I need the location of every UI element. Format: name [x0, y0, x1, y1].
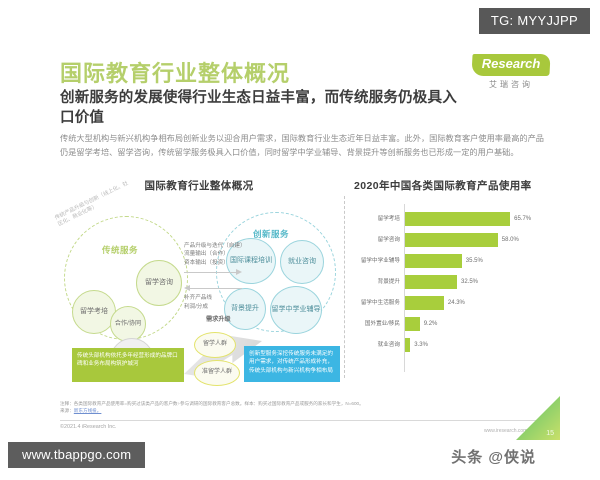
chart-bar: [405, 212, 510, 226]
slide-body: 国际教育行业整体概况 传统产品升级与创新（线上化、社区化、商业化等） 传统服务 …: [58, 178, 546, 388]
bubble-innovative-2: 就业咨询: [280, 240, 324, 284]
chart-value-label: 35.5%: [466, 252, 483, 270]
chart-value-label: 3.3%: [414, 336, 428, 354]
chart-category-label: 留学咨询: [352, 231, 400, 249]
chart-value-label: 9.2%: [424, 315, 438, 333]
chart-row: 留学考培65.7%: [352, 210, 546, 228]
logo-text: Research: [472, 56, 550, 71]
slide-header: 国际教育行业整体概况 创新服务的发展使得行业生态日益丰富，而传统服务仍极具入口价…: [40, 48, 560, 136]
bubble-innovative-4: 留学中学业辅导: [270, 286, 322, 334]
bubble-traditional-3: 合作/协同: [110, 306, 146, 342]
chart-category-label: 背景提升: [352, 273, 400, 291]
callout-traditional: 传统头部机构依托多年经营形成的品牌口碑和业务布局构筑护城河: [72, 348, 184, 382]
callout-innovative: 创新型服务深挖传统服务未满足的用户需求，对传统产品形成补充，传统头部机构与新兴机…: [244, 346, 340, 382]
flow-right-line3: 资本输出（投资）: [184, 259, 246, 267]
watermark-bottom-left: www.tbappgo.com: [8, 442, 145, 468]
chart-category-label: 留学中学业辅导: [352, 252, 400, 270]
iresearch-logo: Research 艾瑞咨询: [472, 54, 550, 90]
lead-paragraph: 传统大型机构与新兴机构争相布局创新业务以迎合用户需求，国际教育行业生态近年日益丰…: [60, 132, 544, 160]
note-line-1: 注释：各类国际教育产品使用率=购买过该类产品的客户数÷参与调研的国际教育客户总数…: [60, 400, 460, 407]
logo-chinese-name: 艾瑞咨询: [472, 79, 550, 90]
chart-row: 就业咨询3.3%: [352, 336, 546, 354]
flow-arrows: 产品升级与迭代（自建） 流量输出（合作） 资本输出（投资） 补齐产品线 利润/分…: [184, 242, 246, 311]
chart-value-label: 24.3%: [448, 294, 465, 312]
chart-row: 留学中生活服务24.3%: [352, 294, 546, 312]
flow-right-line2: 流量输出（合作）: [184, 250, 246, 258]
note-line-2: 来源：新东方线投。: [60, 407, 460, 414]
chart-category-label: 留学考培: [352, 210, 400, 228]
chart-notes: 注释：各类国际教育产品使用率=购买过该类产品的客户数÷参与调研的国际教育客户总数…: [60, 400, 460, 415]
watermark-toutiao: 头条 @侠说: [451, 446, 536, 467]
traditional-label: 传统服务: [102, 244, 138, 256]
flow-left-line1: 补齐产品线: [184, 294, 246, 302]
chart-bar: [405, 296, 444, 310]
chart-row: 留学中学业辅导35.5%: [352, 252, 546, 270]
page-title: 国际教育行业整体概况: [60, 56, 290, 88]
report-slide: 国际教育行业整体概况 创新服务的发展使得行业生态日益丰富，而传统服务仍极具入口价…: [40, 48, 560, 440]
copyright-text: ©2021.4 iResearch Inc.: [60, 424, 116, 430]
chart-bar: [405, 275, 457, 289]
chart-bar: [405, 338, 410, 352]
ecosystem-panel: 国际教育行业整体概况 传统产品升级与创新（线上化、社区化、商业化等） 传统服务 …: [58, 178, 340, 388]
bubble-traditional-2: 留学咨询: [136, 260, 182, 306]
left-panel-title: 国际教育行业整体概况: [58, 178, 340, 193]
chart-value-label: 32.5%: [461, 273, 478, 291]
footer-divider: [60, 420, 544, 421]
logo-mark: Research: [471, 54, 550, 76]
chart-bar: [405, 233, 498, 247]
chart-value-label: 65.7%: [514, 210, 531, 228]
panel-divider: [344, 196, 345, 378]
audience-group-1: 留学人群: [194, 332, 236, 358]
chart-category-label: 就业咨询: [352, 336, 400, 354]
demand-upgrade-label: 需求升级: [206, 314, 231, 323]
chart-title: 2020年中国各类国际教育产品使用率: [352, 178, 546, 193]
audience-group-2: 准留学人群: [194, 360, 240, 386]
chart-row: 国外置业/移民9.2%: [352, 315, 546, 333]
chart-bar: [405, 317, 420, 331]
chart-category-label: 留学中生活服务: [352, 294, 400, 312]
ecosystem-diagram: 传统产品升级与创新（线上化、社区化、商业化等） 传统服务 留学考培 留学咨询 合…: [58, 198, 340, 388]
page-subtitle: 创新服务的发展使得行业生态日益丰富，而传统服务仍极具入口价值: [60, 88, 460, 128]
chart-row: 背景提升32.5%: [352, 273, 546, 291]
flow-right-line1: 产品升级与迭代（自建）: [184, 242, 246, 250]
chart-row: 留学咨询58.0%: [352, 231, 546, 249]
arrow-left-icon: [184, 285, 246, 292]
slide-page: TG: MYYJJPP 国际教育行业整体概况 创新服务的发展使得行业生态日益丰富…: [0, 0, 600, 480]
note-source-link[interactable]: 新东方线投。: [74, 408, 102, 413]
chart-category-label: 国外置业/移民: [352, 315, 400, 333]
page-number: 15: [546, 430, 554, 437]
chart-value-label: 58.0%: [502, 231, 519, 249]
watermark-top-right: TG: MYYJJPP: [479, 8, 590, 34]
usage-rate-chart-panel: 2020年中国各类国际教育产品使用率 留学考培65.7%留学咨询58.0%留学中…: [352, 178, 546, 388]
arrow-right-icon: [184, 269, 246, 276]
usage-rate-bar-chart: 留学考培65.7%留学咨询58.0%留学中学业辅导35.5%背景提升32.5%留…: [352, 204, 546, 374]
flow-left-line2: 利润/分成: [184, 303, 246, 311]
note-source-prefix: 来源：: [60, 408, 74, 413]
chart-bar: [405, 254, 462, 268]
